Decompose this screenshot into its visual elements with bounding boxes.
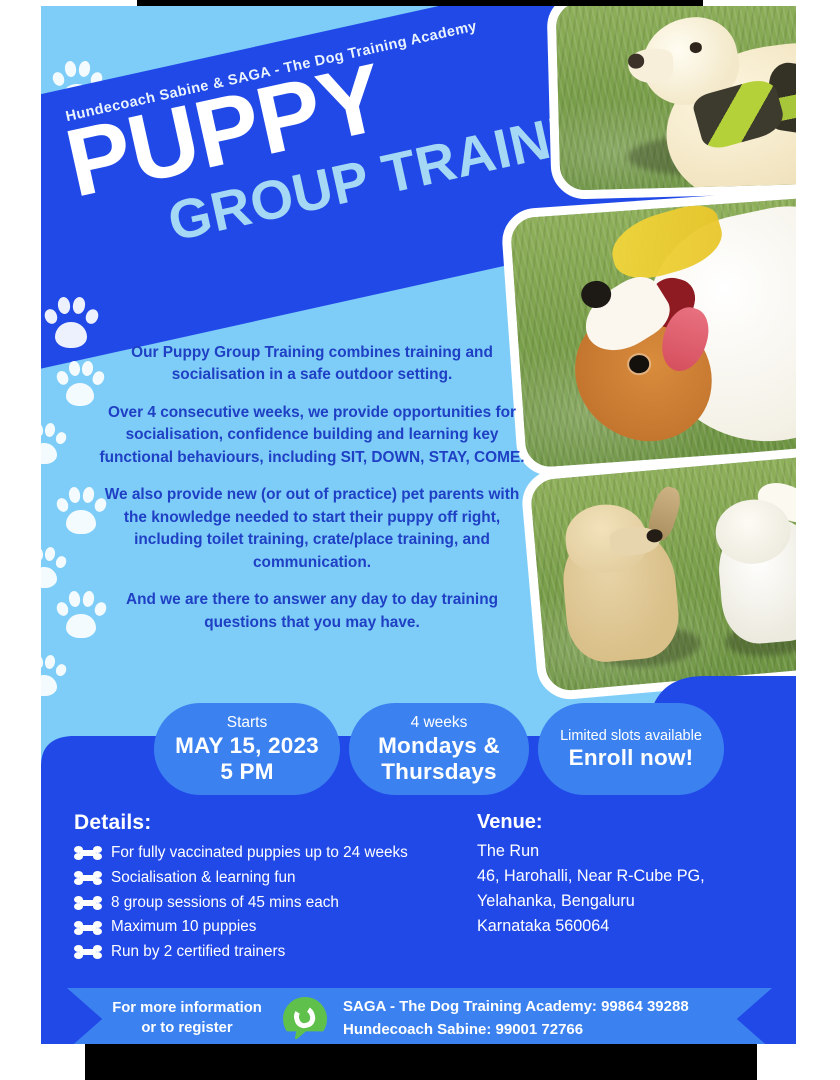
body-copy: Our Puppy Group Training combines traini… [97,342,527,634]
pill-row: Starts MAY 15, 20235 PM 4 weeks Mondays … [41,703,796,795]
pill-enroll-value: Enroll now! [569,745,694,771]
list-item: Maximum 10 puppies [74,915,474,940]
body-paragraph-1: Our Puppy Group Training combines traini… [97,342,527,387]
paw-print-icon [43,294,99,350]
venue-block: Venue: The Run 46, Harohalli, Near R-Cub… [477,811,777,939]
photo-labrador-puppy [546,6,796,200]
list-item-label: Maximum 10 puppies [111,915,256,940]
contact-cta-line-1: For more information [112,1000,262,1016]
list-item: For fully vaccinated puppies up to 24 we… [74,841,474,866]
contact-number-saga[interactable]: SAGA - The Dog Training Academy: 99864 3… [343,996,689,1019]
poster-canvas: Hundecoach Sabine & SAGA - The Dog Train… [41,6,796,1044]
body-paragraph-3: We also provide new (or out of practice)… [97,484,527,574]
paw-print-icon [41,544,67,590]
pill-schedule-value: Mondays &Thursdays [378,733,500,785]
contact-numbers: SAGA - The Dog Training Academy: 99864 3… [343,996,689,1042]
list-item: Run by 2 certified trainers [74,940,474,965]
pill-start-value: MAY 15, 20235 PM [175,733,319,785]
bone-icon [74,896,102,910]
photo-two-dogs-meeting [520,444,796,702]
paw-print-icon [55,484,107,536]
list-item-label: Run by 2 certified trainers [111,940,285,965]
venue-address-line-3: Karnataka 560064 [477,914,777,939]
contact-cta-line-2: or to register [141,1020,232,1036]
venue-name: The Run [477,839,777,864]
details-heading: Details: [74,811,474,835]
body-paragraph-2: Over 4 consecutive weeks, we provide opp… [97,402,527,469]
screenshot-root: Hundecoach Sabine & SAGA - The Dog Train… [0,0,840,1080]
pill-enroll-label: Limited slots available [560,727,702,745]
contact-number-sabine[interactable]: Hundecoach Sabine: 99001 72766 [343,1019,689,1042]
bone-icon [74,921,102,935]
list-item: 8 group sessions of 45 mins each [74,891,474,916]
photo-corgi-puppy [500,186,796,478]
list-item-label: Socialisation & learning fun [111,866,296,891]
paw-print-icon [41,652,67,698]
bone-icon [74,846,102,860]
paw-print-icon [55,358,105,408]
bone-icon [74,871,102,885]
list-item: Socialisation & learning fun [74,866,474,891]
whatsapp-icon[interactable] [283,997,327,1041]
page-margin-right [796,0,840,1080]
list-item-label: 8 group sessions of 45 mins each [111,891,339,916]
bone-icon [74,945,102,959]
body-paragraph-4: And we are there to answer any day to da… [97,589,527,634]
pill-enroll[interactable]: Limited slots available Enroll now! [538,703,724,795]
pill-start-date[interactable]: Starts MAY 15, 20235 PM [154,703,340,795]
venue-heading: Venue: [477,811,777,834]
list-item-label: For fully vaccinated puppies up to 24 we… [111,841,408,866]
pill-schedule[interactable]: 4 weeks Mondays &Thursdays [349,703,529,795]
letterbox-bar-bottom [85,1044,757,1080]
venue-address-line-1: 46, Harohalli, Near R-Cube PG, [477,864,777,889]
letterbox-bar-top [137,0,703,6]
page-margin-left [0,0,41,1080]
details-list: For fully vaccinated puppies up to 24 we… [74,841,474,965]
paw-print-icon [41,420,67,466]
details-block: Details: For fully vaccinated puppies up… [74,811,474,965]
paw-print-icon [55,588,107,640]
contact-cta: For more information or to register [67,999,283,1039]
contact-ribbon: For more information or to register SAGA… [67,988,772,1044]
pill-schedule-label: 4 weeks [411,713,468,732]
pill-start-label: Starts [227,713,267,732]
venue-address-line-2: Yelahanka, Bengaluru [477,889,777,914]
